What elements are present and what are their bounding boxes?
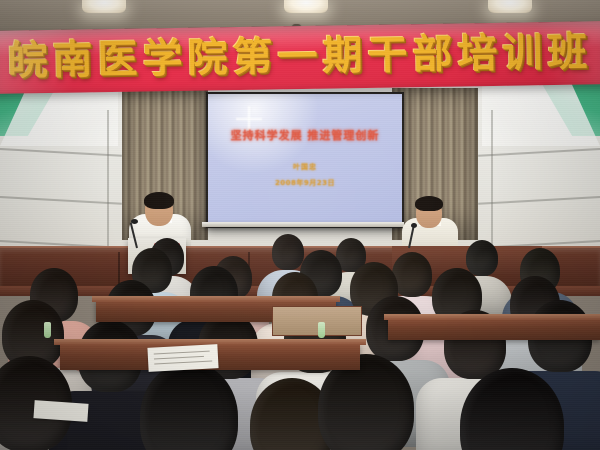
wall-corner-right bbox=[491, 110, 493, 260]
water-bottle bbox=[44, 322, 51, 338]
speaker-hair bbox=[415, 196, 443, 211]
ceiling-light-left bbox=[82, 0, 126, 13]
handout-paper bbox=[147, 344, 218, 372]
slide-date: 2008年9月23日 bbox=[208, 178, 402, 188]
microphone-icon bbox=[411, 223, 417, 228]
event-banner: 皖南医学院第一期干部培训班 bbox=[0, 21, 600, 94]
desk-row-top bbox=[384, 314, 600, 320]
desk-row bbox=[388, 318, 600, 340]
ceiling-light-right bbox=[488, 0, 532, 13]
banner-text: 皖南医学院第一期干部培训班 bbox=[0, 28, 600, 86]
audience-head bbox=[466, 240, 498, 276]
handout-paper bbox=[33, 400, 88, 422]
audience-head bbox=[272, 234, 304, 270]
conference-hall-photo: 坚持科学发展 推进管理创新 叶国忠 2008年9月23日 皖南医学院第一期干部培… bbox=[0, 0, 600, 450]
microphone-icon bbox=[131, 219, 138, 224]
projection-screen: 坚持科学发展 推进管理创新 叶国忠 2008年9月23日 bbox=[206, 92, 404, 228]
slide-title: 坚持科学发展 推进管理创新 bbox=[208, 127, 402, 143]
speaker-hair bbox=[144, 192, 174, 209]
wall-corner-left bbox=[107, 110, 109, 260]
ceiling-light-center bbox=[284, 0, 328, 13]
audience-head bbox=[392, 252, 432, 297]
desk-front-panel bbox=[272, 306, 362, 336]
screen-bottom-bar bbox=[202, 222, 404, 227]
slide-author: 叶国忠 bbox=[208, 162, 402, 172]
water-bottle bbox=[318, 322, 325, 338]
desk-row-top bbox=[92, 296, 340, 302]
